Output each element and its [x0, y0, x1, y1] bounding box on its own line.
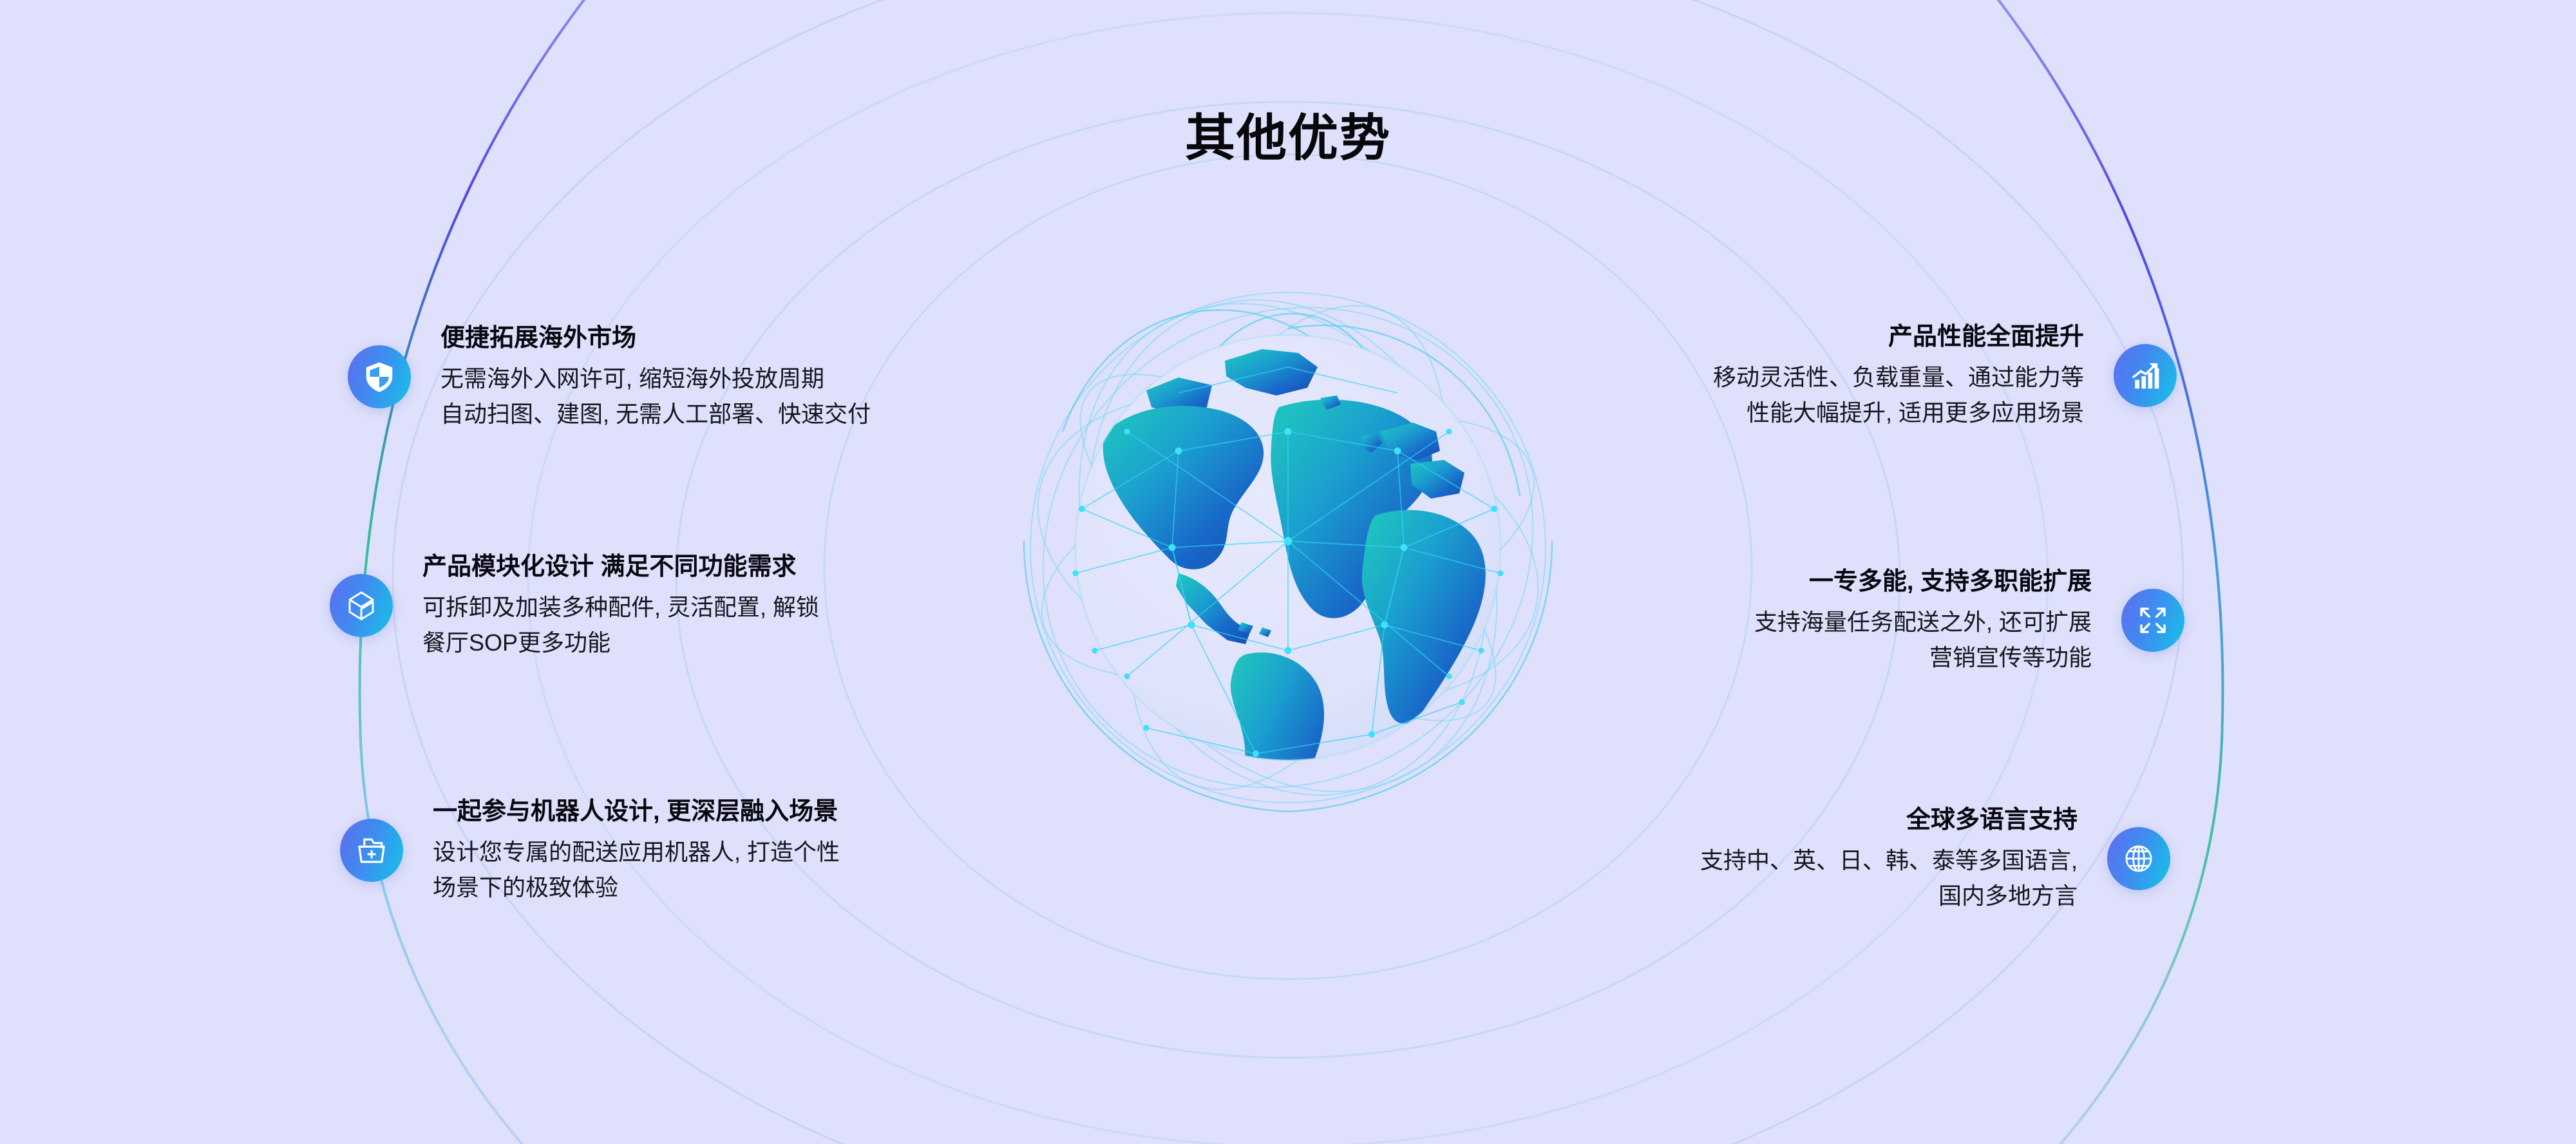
page-title: 其他优势	[0, 110, 2576, 167]
trending-bar-chart-icon	[2114, 344, 2177, 407]
feature-text-left-1: 产品模块化设计 满足不同功能需求 可拆卸及加装多种配件, 灵活配置, 解锁 餐厅…	[393, 551, 819, 661]
feature-desc-line: 无需海外入网许可, 缩短海外投放周期	[440, 361, 871, 397]
folder-plus-icon	[340, 819, 403, 882]
feature-desc-line: 设计您专属的配送应用机器人, 打造个性	[433, 835, 840, 870]
feature-desc-line: 国内多地方言	[1700, 879, 2078, 914]
feature-title: 一起参与机器人设计, 更深层融入场景	[433, 796, 840, 828]
feature-item-left-2[interactable]: 一起参与机器人设计, 更深层融入场景 设计您专属的配送应用机器人, 打造个性 场…	[340, 796, 840, 906]
feature-title: 一专多能, 支持多职能扩展	[1754, 566, 2092, 598]
feature-title: 产品模块化设计 满足不同功能需求	[422, 551, 819, 584]
feature-desc-line: 支持海量任务配送之外, 还可扩展	[1754, 605, 2092, 640]
shield-icon	[348, 345, 411, 408]
feature-title: 产品性能全面提升	[1713, 321, 2084, 354]
world-globe-network-graphic	[985, 238, 1591, 857]
cube-box-icon	[330, 574, 393, 637]
feature-title: 全球多语言支持	[1700, 804, 2078, 837]
feature-desc-line: 自动扫图、建图, 无需人工部署、快速交付	[440, 397, 871, 432]
feature-text-right-2: 全球多语言支持 支持中、英、日、韩、泰等多国语言, 国内多地方言	[1700, 804, 2107, 914]
expand-arrows-icon	[2121, 589, 2184, 652]
feature-text-right-1: 一专多能, 支持多职能扩展 支持海量任务配送之外, 还可扩展 营销宣传等功能	[1754, 566, 2121, 676]
feature-item-right-1[interactable]: 一专多能, 支持多职能扩展 支持海量任务配送之外, 还可扩展 营销宣传等功能	[1754, 566, 2184, 676]
feature-desc-line: 场景下的极致体验	[433, 870, 840, 906]
feature-desc-line: 性能大幅提升, 适用更多应用场景	[1713, 396, 2084, 431]
feature-item-right-0[interactable]: 产品性能全面提升 移动灵活性、负载重量、通过能力等 性能大幅提升, 适用更多应用…	[1713, 321, 2177, 431]
feature-text-right-0: 产品性能全面提升 移动灵活性、负载重量、通过能力等 性能大幅提升, 适用更多应用…	[1713, 321, 2114, 431]
feature-desc-line: 移动灵活性、负载重量、通过能力等	[1713, 360, 2084, 396]
feature-text-left-0: 便捷拓展海外市场 无需海外入网许可, 缩短海外投放周期 自动扫图、建图, 无需人…	[411, 322, 871, 432]
feature-desc-line: 可拆卸及加装多种配件, 灵活配置, 解锁	[422, 590, 819, 625]
feature-item-left-1[interactable]: 产品模块化设计 满足不同功能需求 可拆卸及加装多种配件, 灵活配置, 解锁 餐厅…	[330, 551, 819, 661]
feature-title: 便捷拓展海外市场	[440, 322, 871, 355]
globe-icon	[2107, 827, 2170, 890]
feature-desc-line: 支持中、英、日、韩、泰等多国语言,	[1700, 843, 2078, 879]
feature-item-right-2[interactable]: 全球多语言支持 支持中、英、日、韩、泰等多国语言, 国内多地方言	[1700, 804, 2170, 914]
feature-item-left-0[interactable]: 便捷拓展海外市场 无需海外入网许可, 缩短海外投放周期 自动扫图、建图, 无需人…	[348, 322, 871, 432]
feature-desc-line: 餐厅SOP更多功能	[422, 625, 819, 661]
feature-desc-line: 营销宣传等功能	[1754, 640, 2092, 676]
feature-text-left-2: 一起参与机器人设计, 更深层融入场景 设计您专属的配送应用机器人, 打造个性 场…	[403, 796, 840, 906]
